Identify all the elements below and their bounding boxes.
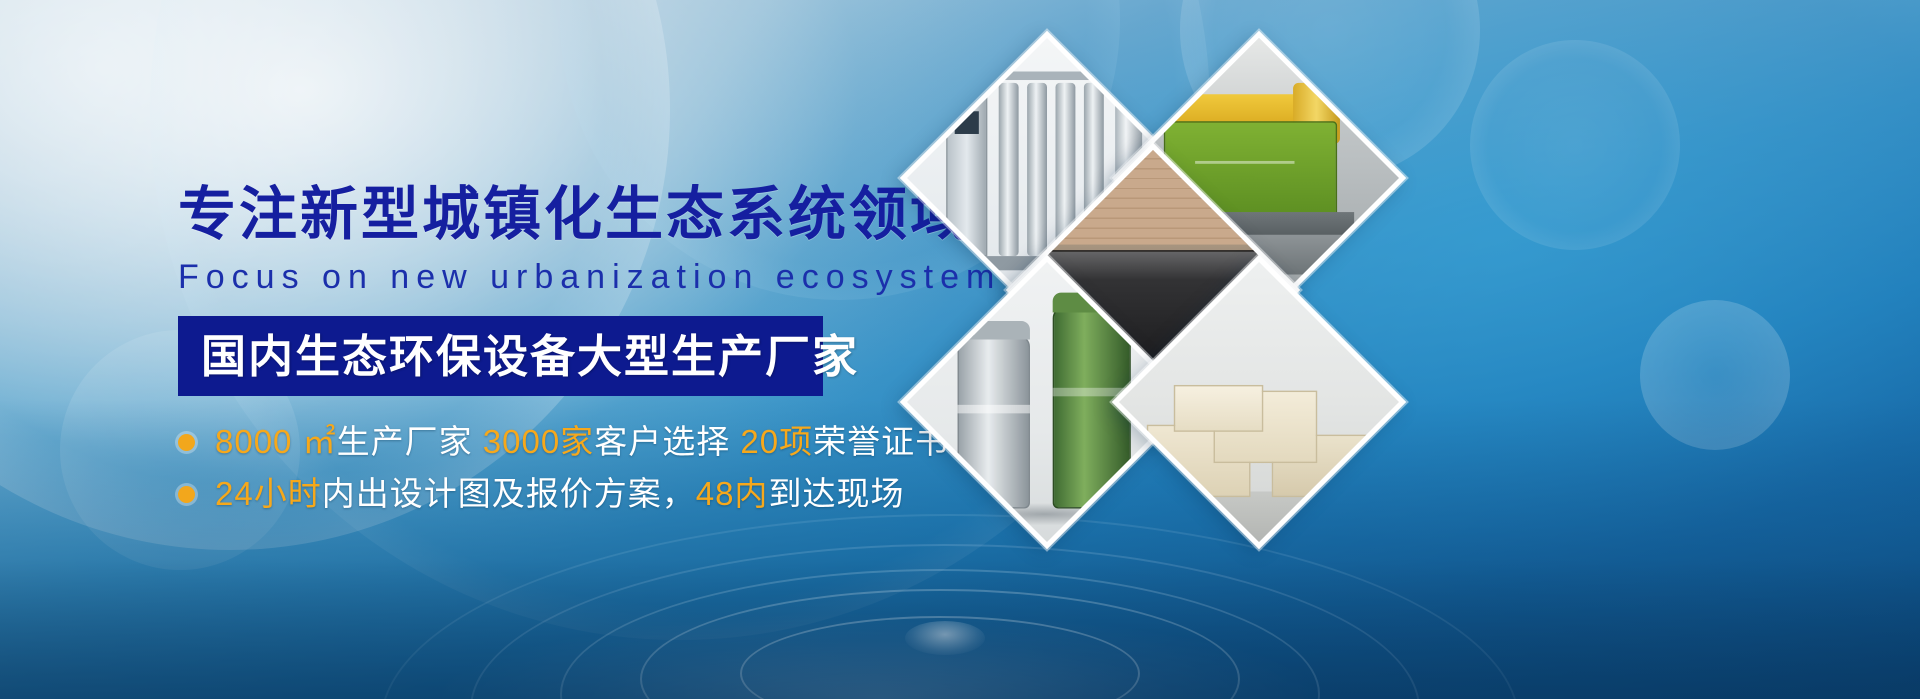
- feature-bullet-text-1: 8000 ㎡生产厂家 3000家客户选择 20项荣誉证书: [215, 424, 949, 460]
- banner-subheadline: Focus on new urbanization ecosystem: [178, 260, 938, 294]
- banner-copy-block: 专注新型城镇化生态系统领域 Focus on new urbanization …: [178, 186, 938, 529]
- banner-headline: 专注新型城镇化生态系统领域: [178, 186, 938, 244]
- bottom-shade: [0, 559, 1920, 699]
- bokeh-circle-5: [1470, 40, 1680, 250]
- bokeh-circle-6: [1640, 300, 1790, 450]
- water-ripple-1: [560, 569, 1320, 699]
- water-ripple-4: [640, 589, 1240, 699]
- feature-bullet-text-2: 24小时内出设计图及报价方案，48内到达现场: [215, 476, 904, 512]
- bullet-dot-icon: [178, 434, 195, 451]
- feature-bullet-item: 8000 ㎡生产厂家 3000家客户选择 20项荣誉证书: [178, 424, 938, 460]
- ribbon-badge: 国内生态环保设备大型生产厂家: [178, 316, 823, 396]
- bullet-dot-icon: [178, 486, 195, 503]
- feature-bullet-list: 8000 ㎡生产厂家 3000家客户选择 20项荣誉证书 24小时内出设计图及报…: [178, 424, 938, 513]
- ribbon-badge-text: 国内生态环保设备大型生产厂家: [178, 334, 859, 379]
- water-splash: [905, 621, 985, 655]
- product-tile-cluster: [905, 48, 1405, 568]
- water-ripple-5: [740, 616, 1140, 699]
- hero-banner: 专注新型城镇化生态系统领域 Focus on new urbanization …: [0, 0, 1920, 699]
- feature-bullet-item: 24小时内出设计图及报价方案，48内到达现场: [178, 476, 938, 512]
